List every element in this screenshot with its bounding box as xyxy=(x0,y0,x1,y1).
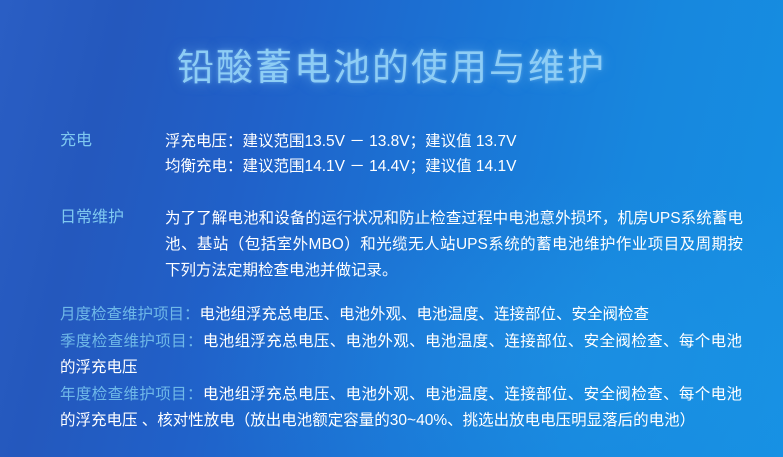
check-item-quarterly: 季度检查维护项目：电池组浮充总电压、电池外观、电池温度、连接部位、安全阀检查、每… xyxy=(60,329,742,381)
check-item-annual-heading: 年度检查维护项目： xyxy=(60,386,203,403)
section-charging-label: 充电 xyxy=(60,129,165,153)
check-item-monthly-body: 电池组浮充总电压、电池外观、电池温度、连接部位、安全阀检查 xyxy=(200,306,650,323)
section-maintenance: 日常维护 为了了解电池和设备的运行状况和防止检查过程中电池意外损坏，机房UPS系… xyxy=(60,206,743,284)
check-item-quarterly-heading: 季度检查维护项目： xyxy=(60,333,203,350)
section-charging: 充电 浮充电压：建议范围13.5V － 13.8V；建议值 13.7V 均衡充电… xyxy=(60,129,516,179)
slide-content: 铅酸蓄电池的使用与维护 充电 浮充电压：建议范围13.5V － 13.8V；建议… xyxy=(0,0,783,457)
check-item-annual: 年度检查维护项目：电池组浮充总电压、电池外观、电池温度、连接部位、安全阀检查、每… xyxy=(60,382,742,434)
page-title: 铅酸蓄电池的使用与维护 xyxy=(0,45,783,91)
charging-line-equalize: 均衡充电：建议范围14.1V － 14.4V；建议值 14.1V xyxy=(165,154,516,179)
check-item-monthly: 月度检查维护项目：电池组浮充总电压、电池外观、电池温度、连接部位、安全阀检查 xyxy=(60,302,742,328)
slide-root: 铅酸蓄电池的使用与维护 充电 浮充电压：建议范围13.5V － 13.8V；建议… xyxy=(0,0,783,457)
charging-line-float: 浮充电压：建议范围13.5V － 13.8V；建议值 13.7V xyxy=(165,129,516,154)
section-maintenance-label: 日常维护 xyxy=(60,206,165,230)
section-maintenance-paragraph: 为了了解电池和设备的运行状况和防止检查过程中电池意外损坏，机房UPS系统蓄电池、… xyxy=(165,206,743,284)
section-charging-lines: 浮充电压：建议范围13.5V － 13.8V；建议值 13.7V 均衡充电：建议… xyxy=(165,129,516,179)
check-item-monthly-heading: 月度检查维护项目： xyxy=(60,306,200,323)
section-check-items: 月度检查维护项目：电池组浮充总电压、电池外观、电池温度、连接部位、安全阀检查 季… xyxy=(60,302,742,435)
